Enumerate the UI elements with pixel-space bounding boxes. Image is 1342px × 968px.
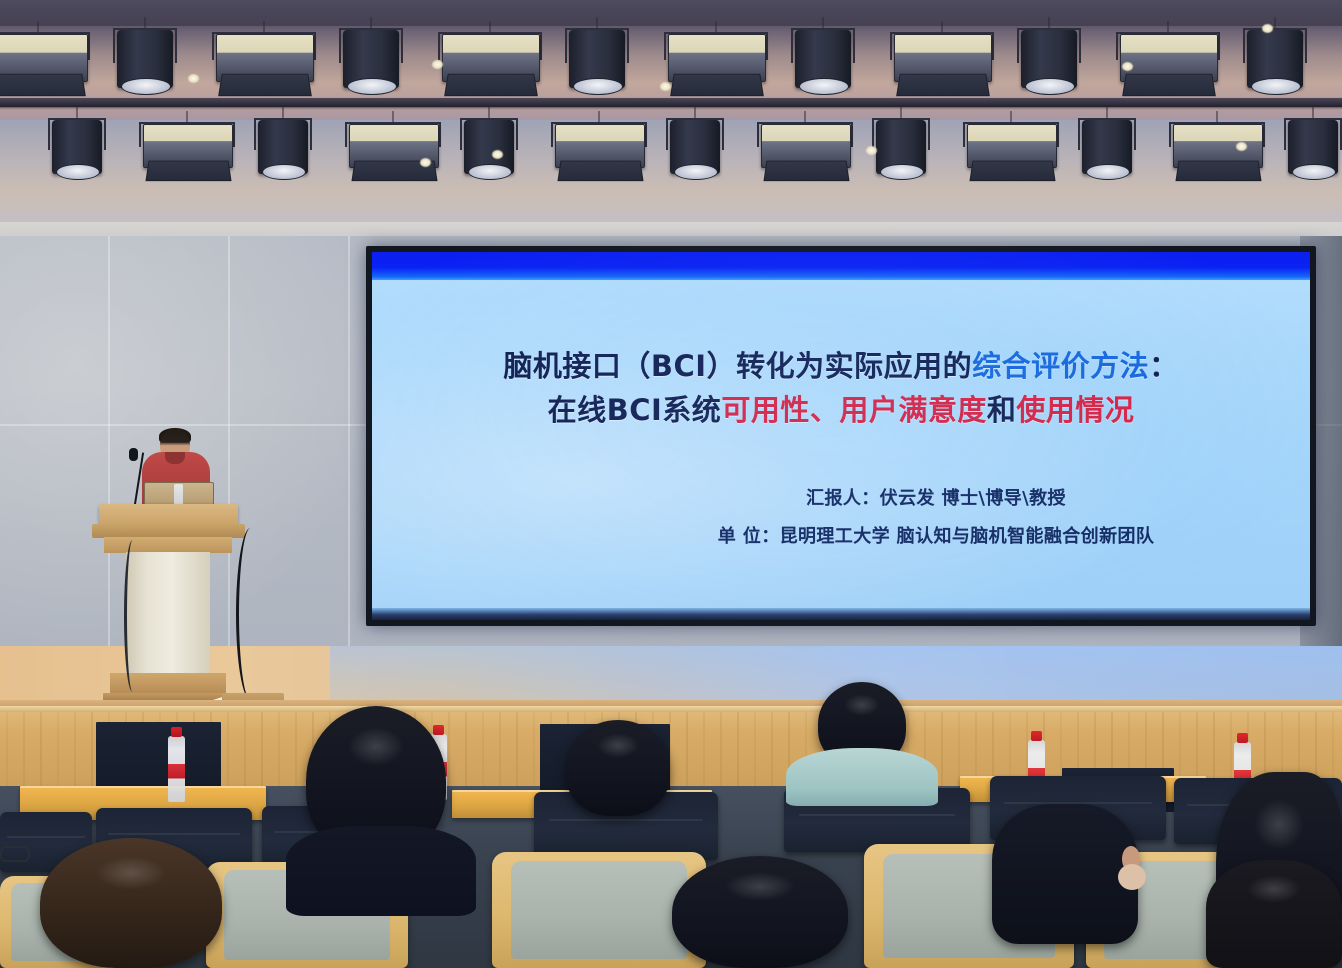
ceiling-bulb-5: [492, 150, 503, 159]
audience-person-head-4: [40, 838, 222, 968]
title-line2-red-c: 使用情况: [1016, 393, 1134, 427]
par-can-light-2-6: [670, 120, 720, 174]
title-line2-dark-a: 在线BCI系统: [548, 393, 722, 427]
fresnel-panel-light-1-2: [216, 34, 312, 80]
presentation-slide: 脑机接口（BCI）转化为实际应用的综合评价方法： 在线BCI系统可用性、用户满意…: [372, 252, 1310, 620]
ceiling-bulb-6: [866, 146, 877, 155]
par-can-light-1-1: [117, 30, 173, 88]
fresnel-panel-light-1-0: [0, 34, 86, 80]
par-can-light-2-8: [876, 120, 926, 174]
projection-screen[interactable]: 脑机接口（BCI）转化为实际应用的综合评价方法： 在线BCI系统可用性、用户满意…: [372, 252, 1310, 620]
audience-person-head-5: [672, 856, 848, 968]
title-line1-dark-a: 脑机接口（BCI）转化为实际应用的: [503, 349, 972, 383]
lighting-truss-upper: [0, 98, 1342, 107]
podium-cable-left: [124, 540, 141, 692]
ceiling-bulb-7: [1236, 142, 1247, 151]
slide-title-line-2: 在线BCI系统可用性、用户满意度和使用情况: [372, 388, 1310, 432]
audience-person-hand-7: [1118, 864, 1146, 890]
presenter-line: 汇报人：伏云发 博士\博导\教授: [372, 480, 1310, 518]
par-can-light-2-10: [1082, 120, 1132, 174]
ceiling-bulb-2: [660, 82, 671, 91]
fresnel-panel-light-1-6: [668, 34, 764, 80]
ceiling-bulb-4: [1262, 24, 1273, 33]
fresnel-panel-light-2-5: [555, 124, 643, 166]
ceiling-bulb-0: [188, 74, 199, 83]
par-can-light-2-0: [52, 120, 102, 174]
title-line2-red-b: 用户满意度: [839, 393, 987, 427]
podium-top: [99, 504, 238, 526]
podium-cable-right: [236, 528, 265, 700]
podium-bevel: [104, 537, 232, 553]
speaker-water-bottle: [174, 484, 183, 506]
fresnel-panel-light-1-10: [1120, 34, 1216, 80]
par-can-light-1-3: [343, 30, 399, 88]
fresnel-panel-light-2-1: [143, 124, 231, 166]
audience-person-torso-1: [286, 826, 476, 916]
par-can-light-1-7: [795, 30, 851, 88]
auditorium-photo: 脑机接口（BCI）转化为实际应用的综合评价方法： 在线BCI系统可用性、用户满意…: [0, 0, 1342, 968]
speaker-glasses: [162, 442, 188, 448]
fresnel-panel-light-1-8: [894, 34, 990, 80]
desk-recess-left: [96, 722, 221, 790]
fresnel-panel-light-1-4: [442, 34, 538, 80]
fresnel-panel-light-2-11: [1173, 124, 1261, 166]
par-can-light-1-9: [1021, 30, 1077, 88]
audience-person-torso-3: [786, 748, 938, 806]
par-can-light-1-11: [1247, 30, 1303, 88]
par-can-light-1-5: [569, 30, 625, 88]
slide-top-band: [372, 252, 1310, 280]
ceiling-bulb-3: [1122, 62, 1133, 71]
ceiling-bulb-1: [432, 60, 443, 69]
speaker-collar: [165, 452, 185, 464]
par-can-light-2-12: [1288, 120, 1338, 174]
water-bottle-1: [168, 736, 185, 802]
title-line1-blue: 综合评价方法: [972, 349, 1149, 383]
title-line1-dark-b: ：: [1149, 349, 1179, 383]
affiliation-line: 单 位：昆明理工大学 脑认知与脑机智能融合创新团队: [372, 518, 1310, 556]
audience-person-head-2: [566, 720, 670, 816]
slide-meta-block: 汇报人：伏云发 博士\博导\教授 单 位：昆明理工大学 脑认知与脑机智能融合创新…: [372, 480, 1310, 556]
title-line2-red-a: 可用性、: [721, 393, 839, 427]
title-line2-dark-b: 和: [987, 393, 1017, 427]
slide-title-line-1: 脑机接口（BCI）转化为实际应用的综合评价方法：: [372, 344, 1310, 388]
ceiling-bulb-8: [420, 158, 431, 167]
par-can-light-2-4: [464, 120, 514, 174]
slide-title: 脑机接口（BCI）转化为实际应用的综合评价方法： 在线BCI系统可用性、用户满意…: [372, 344, 1310, 432]
audience-person-head-7: [992, 804, 1138, 944]
fresnel-panel-light-2-9: [967, 124, 1055, 166]
eyeglasses-on-desk: [0, 846, 30, 862]
slide-bottom-band: [372, 608, 1310, 620]
par-can-light-2-2: [258, 120, 308, 174]
audience-person-head-8: [1206, 860, 1342, 968]
microphone-head: [129, 448, 138, 461]
fresnel-panel-light-2-7: [761, 124, 849, 166]
podium-lip: [92, 524, 245, 538]
